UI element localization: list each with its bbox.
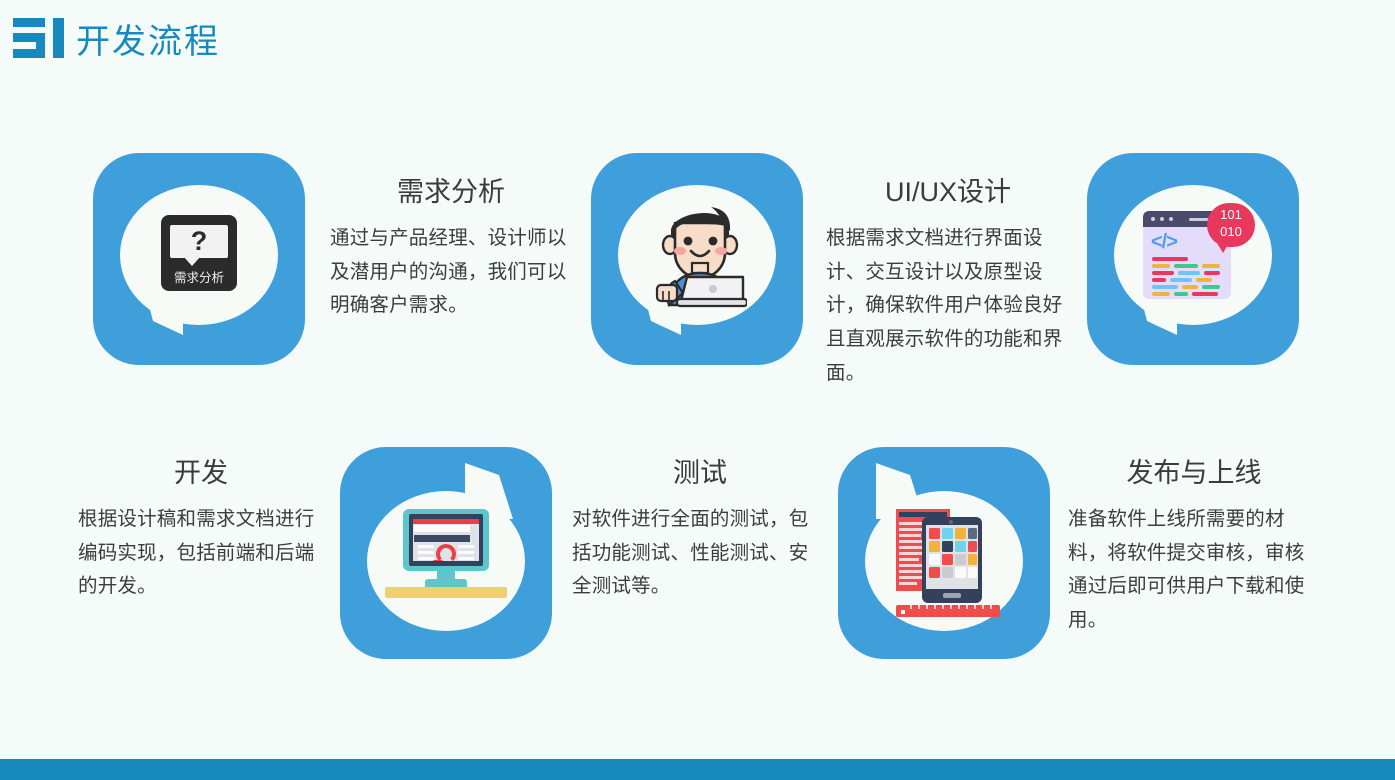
step-icon-tile-coding-window[interactable]: </> 101 010 [1087,153,1299,365]
step-title: 开发 [78,457,324,489]
step-text-ui-ux-design: UI/UX设计 根据需求文档进行界面设计、交互设计以及原型设计，确保软件用户体验… [826,176,1070,390]
question-speech-box-icon: ? 需求分析 [161,215,237,291]
code-tag-glyph: </> [1151,231,1177,254]
monitor-frame [403,509,489,571]
developer-person-laptop-icon [651,201,747,311]
monitor-screen [409,514,483,566]
step-description: 准备软件上线所需要的材料，将软件提交审核，审核通过后即可供用户下载和使用。 [1068,503,1320,637]
badge-line-2: 010 [1207,223,1255,240]
page-title: 开发流程 [76,14,220,63]
step-text-development: 开发 根据设计稿和需求文档进行编码实现，包括前端和后端的开发。 [78,457,324,604]
step-text-testing: 测试 对软件进行全面的测试，包括功能测试、性能测试、安全测试等。 [572,457,828,604]
question-bubble-body: ? [170,225,228,258]
step-title: 测试 [572,457,828,489]
step-icon-tile-testing[interactable] [838,447,1050,659]
step-description: 通过与产品经理、设计师以及潜用户的沟通，我们可以明确客户需求。 [330,222,572,323]
step-icon-tile-requirements-analysis[interactable]: ? 需求分析 [93,153,305,365]
tablet-device [922,517,982,603]
logo-51-icon [13,16,65,60]
badge-line-1: 101 [1207,206,1255,223]
step-description: 对软件进行全面的测试，包括功能测试、性能测试、安全测试等。 [572,503,828,604]
step-text-requirements-analysis: 需求分析 通过与产品经理、设计师以及潜用户的沟通，我们可以明确客户需求。 [330,176,572,323]
step-text-release: 发布与上线 准备软件上线所需要的材料，将软件提交审核，审核通过后即可供用户下载和… [1068,457,1320,638]
step-title: 需求分析 [330,176,572,208]
slide-header: 开发流程 [0,0,1395,78]
step-icon-tile-development[interactable] [340,447,552,659]
question-mark-glyph: ? [170,223,228,259]
step-title: 发布与上线 [1068,457,1320,489]
step-description: 根据设计稿和需求文档进行编码实现，包括前端和后端的开发。 [78,503,324,604]
step-icon-tile-ui-ux-design[interactable] [591,153,803,365]
question-box-label: 需求分析 [161,267,237,286]
step-title: UI/UX设计 [826,176,1070,208]
slide-canvas: 开发流程 ? 需求分析 需求分析 通过与产品经理、设计师以及潜用户的沟通，我们可… [0,0,1395,780]
tablet-screen [926,525,978,589]
ruler-bar [896,605,1000,617]
step-description: 根据需求文档进行界面设计、交互设计以及原型设计，确保软件用户体验良好且直观展示软… [826,222,1070,390]
bottom-accent-bar [0,759,1395,780]
question-bubble-nub [184,257,200,266]
refresh-arrow-icon [436,544,456,561]
